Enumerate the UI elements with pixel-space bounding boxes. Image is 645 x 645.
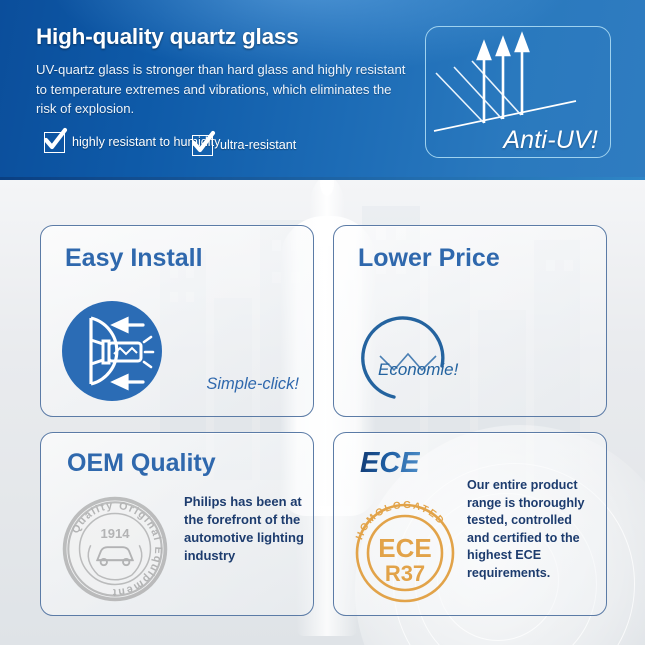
anti-uv-label: Anti-UV! xyxy=(503,126,598,155)
card-oem-quality[interactable]: OEM Quality Quality Original Equipment 1… xyxy=(40,432,314,616)
card-title: ECE xyxy=(360,447,420,480)
card-body: Our entire product range is thoroughly t… xyxy=(467,477,595,583)
card-title: Lower Price xyxy=(358,244,500,273)
header-title: High-quality quartz glass xyxy=(36,24,299,50)
feature-checklist: highly resistant to humidity ultra-resis… xyxy=(40,132,420,176)
seal-year: 1914 xyxy=(100,526,130,541)
header-banner: High-quality quartz glass UV-quartz glas… xyxy=(0,0,645,180)
checkmark-icon xyxy=(42,127,68,153)
card-easy-install[interactable]: Easy Install xyxy=(40,225,314,417)
anti-uv-panel: Anti-UV! xyxy=(425,26,611,158)
checkbox-icon xyxy=(44,132,65,153)
check-label: ultra-resistant xyxy=(220,138,296,153)
card-caption: Simple-click! xyxy=(206,375,299,394)
infographic-page: High-quality quartz glass UV-quartz glas… xyxy=(0,0,645,645)
bulb-install-icon xyxy=(59,298,165,404)
card-lower-price[interactable]: Lower Price Economie! xyxy=(333,225,607,417)
ece-homologated-icon: HOMOLOGATED ECE R37 xyxy=(348,495,462,607)
card-caption: Economie! xyxy=(378,360,458,380)
card-title: OEM Quality xyxy=(67,449,216,478)
card-ece[interactable]: ECE HOMOLOGATED ECE R37 Our entire produ… xyxy=(333,432,607,616)
card-title: Easy Install xyxy=(65,244,203,273)
quality-seal-icon: Quality Original Equipment 1914 xyxy=(59,493,171,605)
check-item-ultra-resistant: ultra-resistant xyxy=(192,135,296,156)
savings-arc-icon xyxy=(354,304,464,404)
ece-badge-line2: R37 xyxy=(385,561,425,586)
header-description: UV-quartz glass is stronger than hard gl… xyxy=(36,60,408,119)
ece-badge-line1: ECE xyxy=(378,533,431,563)
checkbox-icon xyxy=(192,135,213,156)
checkmark-icon xyxy=(190,130,216,156)
card-body: Philips has been at the forefront of the… xyxy=(184,493,306,565)
